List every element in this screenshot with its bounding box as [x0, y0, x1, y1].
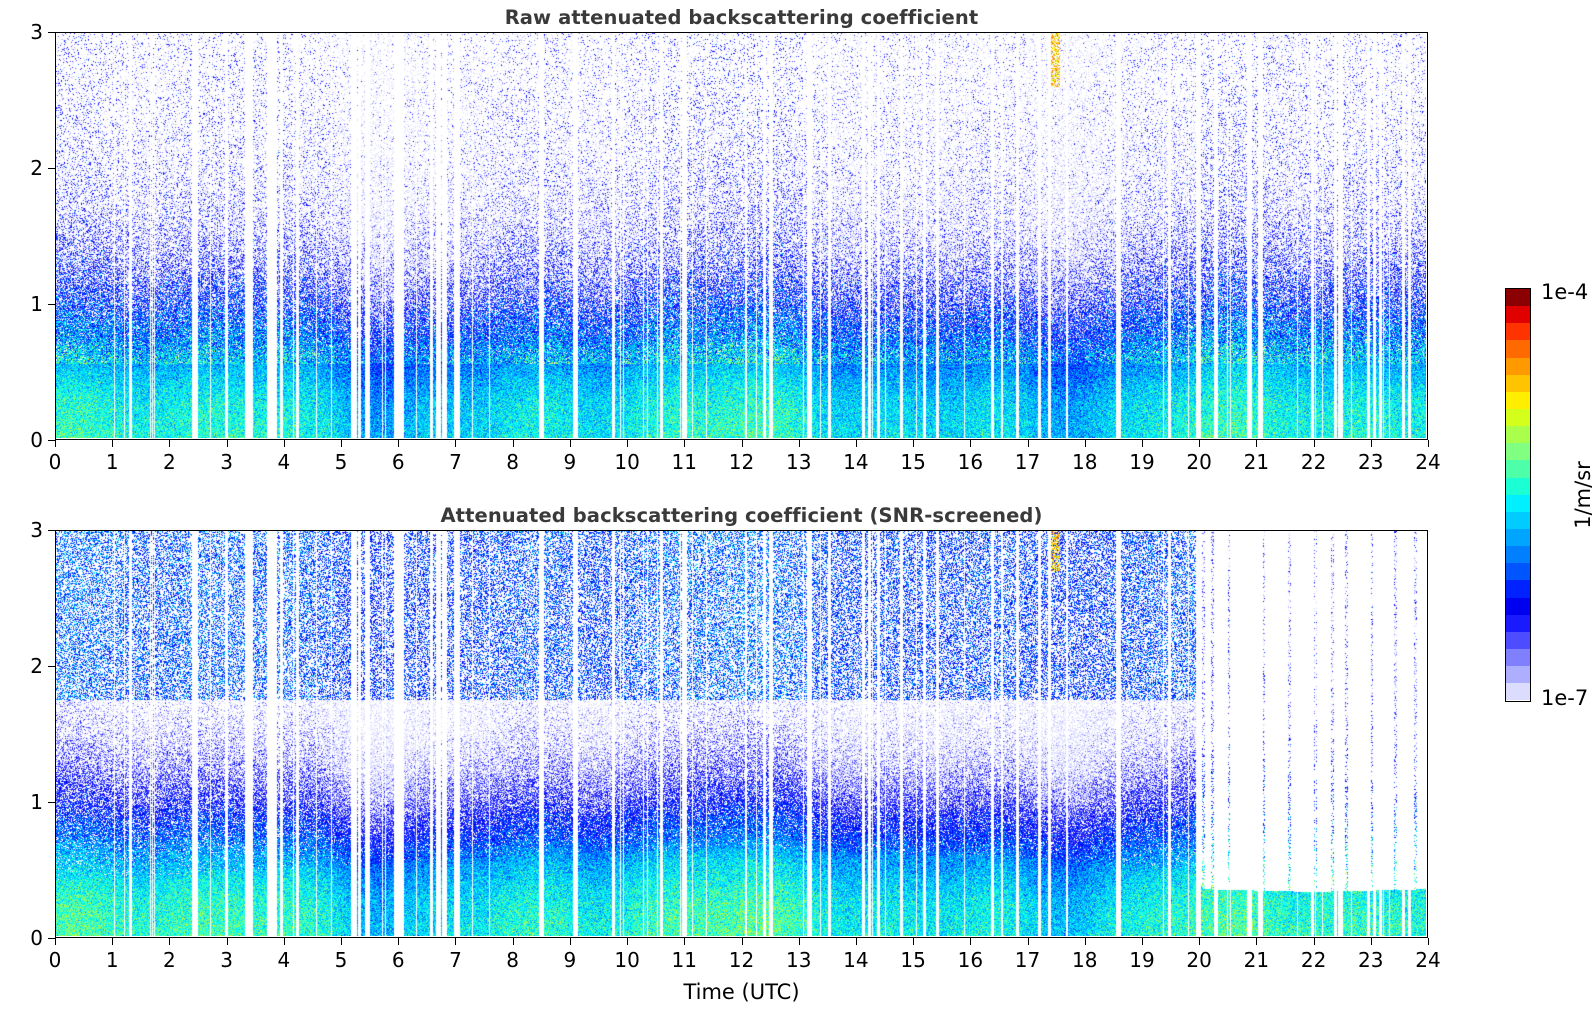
colorbar-segment [1506, 495, 1530, 512]
panel-title-raw: Raw attenuated backscattering coefficien… [55, 6, 1428, 29]
x-axis-label-screened: Time (UTC) [683, 980, 799, 1004]
x-tick-label: 17 [1015, 450, 1040, 474]
y-tick [48, 304, 55, 305]
colorbar-segment [1506, 443, 1530, 460]
x-tick [742, 938, 743, 945]
x-tick-label: 10 [614, 450, 639, 474]
x-tick [284, 440, 285, 447]
x-tick-label: 14 [843, 948, 868, 972]
heatmap-plot-raw[interactable] [55, 32, 1428, 440]
x-tick [1085, 440, 1086, 447]
x-tick [627, 938, 628, 945]
x-tick [684, 938, 685, 945]
heatmap-canvas-screened [56, 531, 1426, 936]
y-tick [48, 168, 55, 169]
y-tick-label: 0 [19, 428, 43, 452]
colorbar-segment [1506, 563, 1530, 580]
x-tick [1199, 938, 1200, 945]
x-tick-label: 16 [958, 948, 983, 972]
colorbar-min-label: 1e-7 [1541, 686, 1588, 710]
x-tick [856, 440, 857, 447]
x-tick-label: 21 [1244, 948, 1269, 972]
x-tick [169, 938, 170, 945]
x-tick [455, 938, 456, 945]
x-tick-label: 10 [614, 948, 639, 972]
x-tick [227, 938, 228, 945]
x-tick-label: 13 [786, 450, 811, 474]
x-tick-label: 22 [1301, 450, 1326, 474]
y-tick-label: 1 [19, 292, 43, 316]
colorbar-segment [1506, 375, 1530, 392]
x-tick [1142, 440, 1143, 447]
x-tick-label: 18 [1072, 450, 1097, 474]
colorbar-segment [1506, 649, 1530, 666]
x-tick-label: 2 [163, 450, 176, 474]
x-tick [398, 440, 399, 447]
x-tick-label: 23 [1358, 450, 1383, 474]
x-tick-label: 6 [392, 450, 405, 474]
x-tick [398, 938, 399, 945]
y-tick-label: 3 [19, 518, 43, 542]
x-tick [227, 440, 228, 447]
x-tick [284, 938, 285, 945]
y-tick [48, 666, 55, 667]
x-tick-label: 8 [506, 948, 519, 972]
x-tick-label: 9 [564, 450, 577, 474]
x-tick-label: 18 [1072, 948, 1097, 972]
y-tick-label: 3 [19, 20, 43, 44]
x-tick-label: 6 [392, 948, 405, 972]
colorbar-segment [1506, 392, 1530, 409]
x-tick-label: 15 [900, 948, 925, 972]
x-tick [341, 938, 342, 945]
x-tick-label: 0 [49, 948, 62, 972]
colorbar-segment [1506, 306, 1530, 323]
x-tick [1028, 938, 1029, 945]
x-tick [455, 440, 456, 447]
colorbar-segment [1506, 426, 1530, 443]
colorbar-segment [1506, 409, 1530, 426]
colorbar-gradient [1505, 288, 1531, 702]
x-tick [570, 440, 571, 447]
x-tick [627, 440, 628, 447]
x-tick-label: 1 [106, 948, 119, 972]
y-tick-label: 1 [19, 790, 43, 814]
colorbar-segment [1506, 546, 1530, 563]
colorbar-segment [1506, 512, 1530, 529]
x-tick-label: 14 [843, 450, 868, 474]
x-tick-label: 11 [672, 948, 697, 972]
x-tick-label: 9 [564, 948, 577, 972]
colorbar-segment [1506, 632, 1530, 649]
x-tick [1314, 938, 1315, 945]
x-tick [799, 938, 800, 945]
colorbar-segment [1506, 598, 1530, 615]
x-tick [799, 440, 800, 447]
x-tick [1199, 440, 1200, 447]
x-tick-label: 19 [1129, 948, 1154, 972]
x-tick [570, 938, 571, 945]
x-tick-label: 24 [1415, 948, 1440, 972]
x-tick [1428, 440, 1429, 447]
y-tick-label: 2 [19, 654, 43, 678]
x-tick [1314, 440, 1315, 447]
x-tick [1428, 938, 1429, 945]
colorbar-max-label: 1e-4 [1541, 280, 1588, 304]
y-tick [48, 440, 55, 441]
colorbar-segment [1506, 683, 1530, 700]
colorbar-segment [1506, 529, 1530, 546]
x-tick-label: 11 [672, 450, 697, 474]
heatmap-plot-screened[interactable] [55, 530, 1428, 938]
x-tick [55, 938, 56, 945]
colorbar-segment [1506, 666, 1530, 683]
y-tick [48, 32, 55, 33]
x-tick [1028, 440, 1029, 447]
lidar-backscatter-figure: Raw attenuated backscattering coefficien… [0, 0, 1595, 1020]
y-tick-label: 0 [19, 926, 43, 950]
x-tick [970, 938, 971, 945]
colorbar-segment [1506, 358, 1530, 375]
x-tick [1371, 440, 1372, 447]
x-tick [913, 440, 914, 447]
x-tick-label: 12 [729, 948, 754, 972]
colorbar-segment [1506, 460, 1530, 477]
colorbar-segment [1506, 580, 1530, 597]
x-tick [1371, 938, 1372, 945]
x-tick-label: 16 [958, 450, 983, 474]
x-tick [513, 938, 514, 945]
x-tick-label: 20 [1186, 450, 1211, 474]
x-tick [169, 440, 170, 447]
x-tick-label: 8 [506, 450, 519, 474]
x-tick [1085, 938, 1086, 945]
x-tick [513, 440, 514, 447]
colorbar-segment [1506, 323, 1530, 340]
y-tick [48, 530, 55, 531]
colorbar-segment [1506, 615, 1530, 632]
x-tick [1142, 938, 1143, 945]
y-tick-label: 2 [19, 156, 43, 180]
x-tick [970, 440, 971, 447]
x-tick [856, 938, 857, 945]
x-tick-label: 23 [1358, 948, 1383, 972]
x-tick-label: 24 [1415, 450, 1440, 474]
x-tick [1256, 938, 1257, 945]
x-tick-label: 15 [900, 450, 925, 474]
x-tick-label: 5 [335, 450, 348, 474]
heatmap-canvas-raw [56, 33, 1426, 438]
x-tick-label: 7 [449, 450, 462, 474]
x-tick-label: 19 [1129, 450, 1154, 474]
x-tick-label: 4 [277, 450, 290, 474]
x-tick-label: 2 [163, 948, 176, 972]
x-tick-label: 12 [729, 450, 754, 474]
colorbar-segment [1506, 289, 1530, 306]
x-tick-label: 13 [786, 948, 811, 972]
x-tick [684, 440, 685, 447]
x-tick-label: 5 [335, 948, 348, 972]
x-tick [742, 440, 743, 447]
y-tick [48, 802, 55, 803]
x-tick [112, 938, 113, 945]
x-tick-label: 3 [220, 948, 233, 972]
x-tick-label: 20 [1186, 948, 1211, 972]
x-tick-label: 21 [1244, 450, 1269, 474]
colorbar-segment [1506, 340, 1530, 357]
colorbar-segment [1506, 478, 1530, 495]
x-tick [55, 440, 56, 447]
x-tick-label: 3 [220, 450, 233, 474]
x-tick [112, 440, 113, 447]
x-tick-label: 1 [106, 450, 119, 474]
x-tick-label: 0 [49, 450, 62, 474]
x-tick [341, 440, 342, 447]
colorbar-unit-label: 1/m/sr [1571, 461, 1595, 529]
x-tick [1256, 440, 1257, 447]
x-tick-label: 7 [449, 948, 462, 972]
panel-title-screened: Attenuated backscattering coefficient (S… [55, 504, 1428, 527]
x-tick-label: 22 [1301, 948, 1326, 972]
x-tick-label: 17 [1015, 948, 1040, 972]
x-tick [913, 938, 914, 945]
y-tick [48, 938, 55, 939]
x-tick-label: 4 [277, 948, 290, 972]
